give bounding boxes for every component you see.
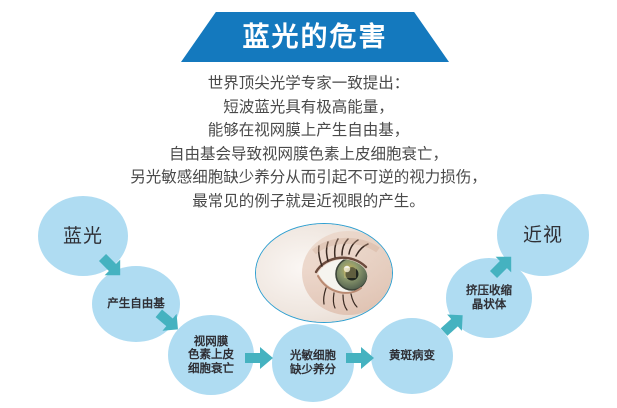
flow-node-label: 近视 xyxy=(519,224,567,246)
flow-node-label: 黄斑病变 xyxy=(385,349,439,363)
flow-node-photoreceptor[interactable]: 光敏细胞 缺少养分 xyxy=(272,324,354,402)
flow-node-label: 视网膜 色素上皮 细胞衰亡 xyxy=(184,335,238,376)
arrow-down-right-icon xyxy=(152,305,184,337)
arrow-down-right-icon xyxy=(95,250,127,282)
arrow-right-icon xyxy=(243,345,275,371)
flow-node-label: 光敏细胞 缺少养分 xyxy=(286,349,340,376)
body-line: 世界顶尖光学专家一致提出： xyxy=(0,72,617,96)
page-title: 蓝光的危害 xyxy=(243,24,388,51)
arrow-right-icon xyxy=(344,345,376,371)
body-paragraph: 世界顶尖光学专家一致提出： 短波蓝光具有极高能量， 能够在视网膜上产生自由基， … xyxy=(0,72,617,213)
infographic-root: 蓝光的危害 世界顶尖光学专家一致提出： 短波蓝光具有极高能量， 能够在视网膜上产… xyxy=(0,0,617,408)
eye-photo xyxy=(255,223,393,323)
body-line: 另光敏感细胞缺少养分从而引起不可逆的视力损伤， xyxy=(0,166,617,190)
eye-illustration xyxy=(256,224,392,322)
flow-node-label: 蓝光 xyxy=(59,225,107,247)
title-banner: 蓝光的危害 xyxy=(181,12,449,62)
flow-node-label: 挤压收缩 晶状体 xyxy=(462,284,516,311)
body-line: 短波蓝光具有极高能量， xyxy=(0,96,617,120)
arrow-up-right-icon xyxy=(486,250,518,282)
body-line: 自由基会导致视网膜色素上皮细胞衰亡， xyxy=(0,143,617,167)
arrow-up-right-icon xyxy=(437,308,469,340)
body-line: 能够在视网膜上产生自由基， xyxy=(0,119,617,143)
